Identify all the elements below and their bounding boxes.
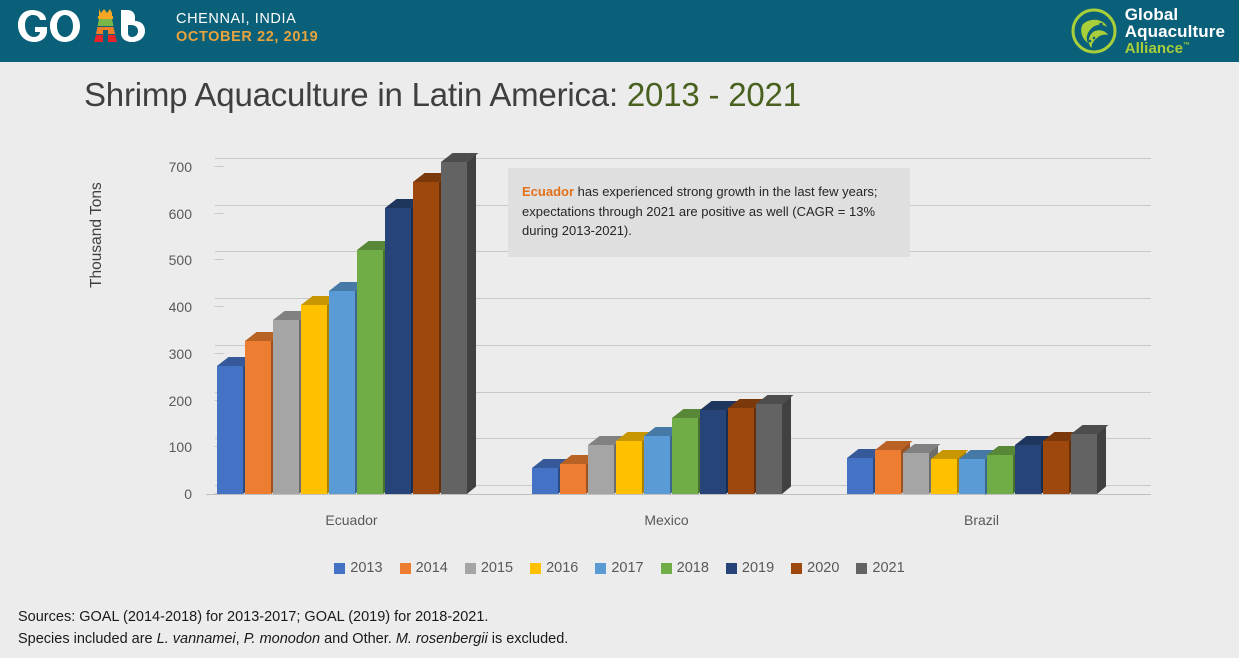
gridline-riser xyxy=(206,251,224,260)
x-axis-line xyxy=(206,494,1151,495)
gridline-riser xyxy=(206,205,224,214)
species-m-rosenbergii: M. rosenbergii xyxy=(396,631,488,647)
event-date: OCTOBER 22, 2019 xyxy=(176,28,318,46)
bar-face xyxy=(644,436,670,494)
y-axis-tick-label: 0 xyxy=(184,486,192,502)
legend-swatch-icon xyxy=(334,563,345,574)
legend-item-2016[interactable]: 2016 xyxy=(530,560,578,576)
bar-ecuador-2019 xyxy=(385,208,411,494)
bar-side xyxy=(467,155,476,494)
legend-label: 2018 xyxy=(677,560,709,576)
bar-ecuador-2021 xyxy=(441,162,467,494)
bar-ecuador-2016 xyxy=(301,305,327,494)
legend-item-2015[interactable]: 2015 xyxy=(465,560,513,576)
bar-face xyxy=(616,441,642,494)
bar-face xyxy=(1015,445,1041,494)
bar-side xyxy=(1097,427,1106,494)
gaa-line-alliance: Alliance™ xyxy=(1125,41,1225,56)
legend-swatch-icon xyxy=(595,563,606,574)
legend-item-2018[interactable]: 2018 xyxy=(661,560,709,576)
bar-face xyxy=(560,464,586,494)
legend-item-2017[interactable]: 2017 xyxy=(595,560,643,576)
legend-item-2019[interactable]: 2019 xyxy=(726,560,774,576)
y-axis-tick-label: 100 xyxy=(169,439,192,455)
bar-ecuador-2015 xyxy=(273,320,299,494)
legend-label: 2016 xyxy=(546,560,578,576)
legend-label: 2014 xyxy=(416,560,448,576)
bar-face xyxy=(959,459,985,495)
legend-swatch-icon xyxy=(726,563,737,574)
bar-ecuador-2020 xyxy=(413,182,439,494)
x-axis-label-brazil: Brazil xyxy=(964,512,999,528)
legend-swatch-icon xyxy=(530,563,541,574)
bar-brazil-2015 xyxy=(903,453,929,494)
bar-brazil-2018 xyxy=(987,455,1013,494)
fish-circle-icon xyxy=(1071,8,1117,54)
y-axis-tick-label: 600 xyxy=(169,206,192,222)
bar-face xyxy=(217,366,243,494)
bar-side xyxy=(782,397,791,494)
bar-face xyxy=(357,250,383,494)
legend-label: 2017 xyxy=(611,560,643,576)
legend-label: 2015 xyxy=(481,560,513,576)
event-info: CHENNAI, INDIA OCTOBER 22, 2019 xyxy=(176,10,318,46)
page-title-years: 2013 - 2021 xyxy=(627,76,801,113)
bar-mexico-2019 xyxy=(700,410,726,494)
y-axis-label: Thousand Tons xyxy=(88,182,106,288)
footer-line-species: Species included are L. vannamei, P. mon… xyxy=(18,628,568,650)
species-p-monodon: P. monodon xyxy=(244,631,320,647)
goal-logo xyxy=(16,8,168,54)
footer-species-mid2: and Other. xyxy=(320,631,396,647)
trademark-symbol: ™ xyxy=(1183,42,1190,49)
annotation-callout: Ecuador has experienced strong growth in… xyxy=(508,168,910,257)
bar-face xyxy=(903,453,929,494)
chart-legend: 201320142015201620172018201920202021 xyxy=(0,560,1239,576)
legend-swatch-icon xyxy=(400,563,411,574)
gaa-wordmark: Global Aquaculture Alliance™ xyxy=(1125,6,1225,56)
y-axis-tick-label: 500 xyxy=(169,252,192,268)
bar-mexico-2021 xyxy=(756,404,782,494)
bar-brazil-2020 xyxy=(1043,441,1069,494)
bar-face xyxy=(413,182,439,494)
legend-label: 2021 xyxy=(872,560,904,576)
bar-brazil-2013 xyxy=(847,458,873,494)
bar-ecuador-2017 xyxy=(329,291,355,494)
bar-face xyxy=(588,445,614,494)
gaa-alliance-text: Alliance xyxy=(1125,40,1183,57)
legend-label: 2019 xyxy=(742,560,774,576)
goal-wordmark-icon xyxy=(16,8,168,54)
bar-face xyxy=(728,408,754,494)
bar-mexico-2017 xyxy=(644,436,670,494)
bar-face xyxy=(273,320,299,494)
event-city: CHENNAI, INDIA xyxy=(176,10,318,28)
species-l-vannamei: L. vannamei xyxy=(157,631,236,647)
legend-label: 2020 xyxy=(807,560,839,576)
bar-face xyxy=(847,458,873,494)
gaa-logo: Global Aquaculture Alliance™ xyxy=(1071,6,1225,56)
bar-ecuador-2014 xyxy=(245,341,271,494)
bar-face xyxy=(672,418,698,494)
bar-brazil-2021 xyxy=(1071,434,1097,494)
bar-ecuador-2018 xyxy=(357,250,383,494)
bar-mexico-2013 xyxy=(532,468,558,494)
bar-face xyxy=(931,459,957,494)
page-header: CHENNAI, INDIA OCTOBER 22, 2019 Global A… xyxy=(0,0,1239,62)
bar-mexico-2016 xyxy=(616,441,642,494)
legend-item-2020[interactable]: 2020 xyxy=(791,560,839,576)
bar-face xyxy=(245,341,271,494)
bar-face xyxy=(875,450,901,494)
bar-face xyxy=(700,410,726,494)
gridline-riser xyxy=(206,345,224,354)
footer-species-mid1: , xyxy=(236,631,244,647)
bar-face xyxy=(756,404,782,494)
y-axis-tick-label: 300 xyxy=(169,346,192,362)
annotation-text: has experienced strong growth in the las… xyxy=(522,184,878,238)
footer-species-post: is excluded. xyxy=(488,631,569,647)
x-axis-label-mexico: Mexico xyxy=(644,512,688,528)
bar-face xyxy=(441,162,467,494)
legend-label: 2013 xyxy=(350,560,382,576)
annotation-highlight: Ecuador xyxy=(522,184,574,199)
bar-face xyxy=(1071,434,1097,494)
bar-mexico-2020 xyxy=(728,408,754,494)
y-axis-tick-label: 200 xyxy=(169,393,192,409)
footer-line-sources: Sources: GOAL (2014-2018) for 2013-2017;… xyxy=(18,606,568,628)
y-axis-tick-label: 400 xyxy=(169,299,192,315)
legend-item-2013[interactable]: 2013 xyxy=(334,560,382,576)
legend-swatch-icon xyxy=(661,563,672,574)
gridline xyxy=(215,158,1151,159)
bar-face xyxy=(1043,441,1069,494)
gaa-line-global: Global xyxy=(1125,6,1225,23)
bar-brazil-2019 xyxy=(1015,445,1041,494)
bar-mexico-2018 xyxy=(672,418,698,494)
bar-face xyxy=(532,468,558,494)
footer-species-pre: Species included are xyxy=(18,631,157,647)
bar-mexico-2014 xyxy=(560,464,586,494)
bar-brazil-2016 xyxy=(931,459,957,494)
legend-swatch-icon xyxy=(791,563,802,574)
page-title: Shrimp Aquaculture in Latin America: 201… xyxy=(84,76,801,114)
x-axis-label-ecuador: Ecuador xyxy=(325,512,377,528)
y-axis-tick-label: 700 xyxy=(169,159,192,175)
footer-notes: Sources: GOAL (2014-2018) for 2013-2017;… xyxy=(18,606,568,651)
bar-face xyxy=(301,305,327,494)
bar-face xyxy=(385,208,411,494)
gridline-riser xyxy=(206,158,224,167)
bar-brazil-2014 xyxy=(875,450,901,494)
bar-brazil-2017 xyxy=(959,459,985,495)
bar-mexico-2015 xyxy=(588,445,614,494)
bar-face xyxy=(329,291,355,494)
legend-item-2014[interactable]: 2014 xyxy=(400,560,448,576)
bar-ecuador-2013 xyxy=(217,366,243,494)
gaa-line-aquaculture: Aquaculture xyxy=(1125,23,1225,40)
bar-face xyxy=(987,455,1013,494)
legend-swatch-icon xyxy=(856,563,867,574)
legend-swatch-icon xyxy=(465,563,476,574)
gridline-riser xyxy=(206,298,224,307)
legend-item-2021[interactable]: 2021 xyxy=(856,560,904,576)
page-title-main: Shrimp Aquaculture in Latin America: xyxy=(84,76,627,113)
